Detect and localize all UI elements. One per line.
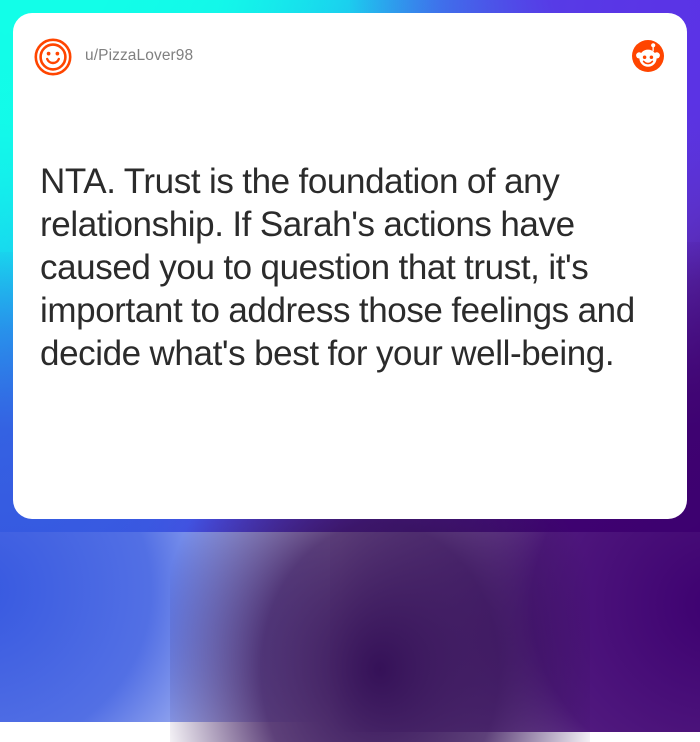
smiley-face-avatar-icon (34, 38, 72, 76)
comment-text: NTA. Trust is the foundation of any rela… (40, 160, 640, 375)
reddit-snoo-logo-icon[interactable] (628, 36, 668, 76)
comment-header: u/PizzaLover98 (13, 13, 687, 101)
comment-card: u/PizzaLover98 NTA. Trust (13, 13, 687, 519)
username-label: u/PizzaLover98 (85, 47, 193, 65)
gradient-background: u/PizzaLover98 NTA. Trust (0, 0, 700, 532)
